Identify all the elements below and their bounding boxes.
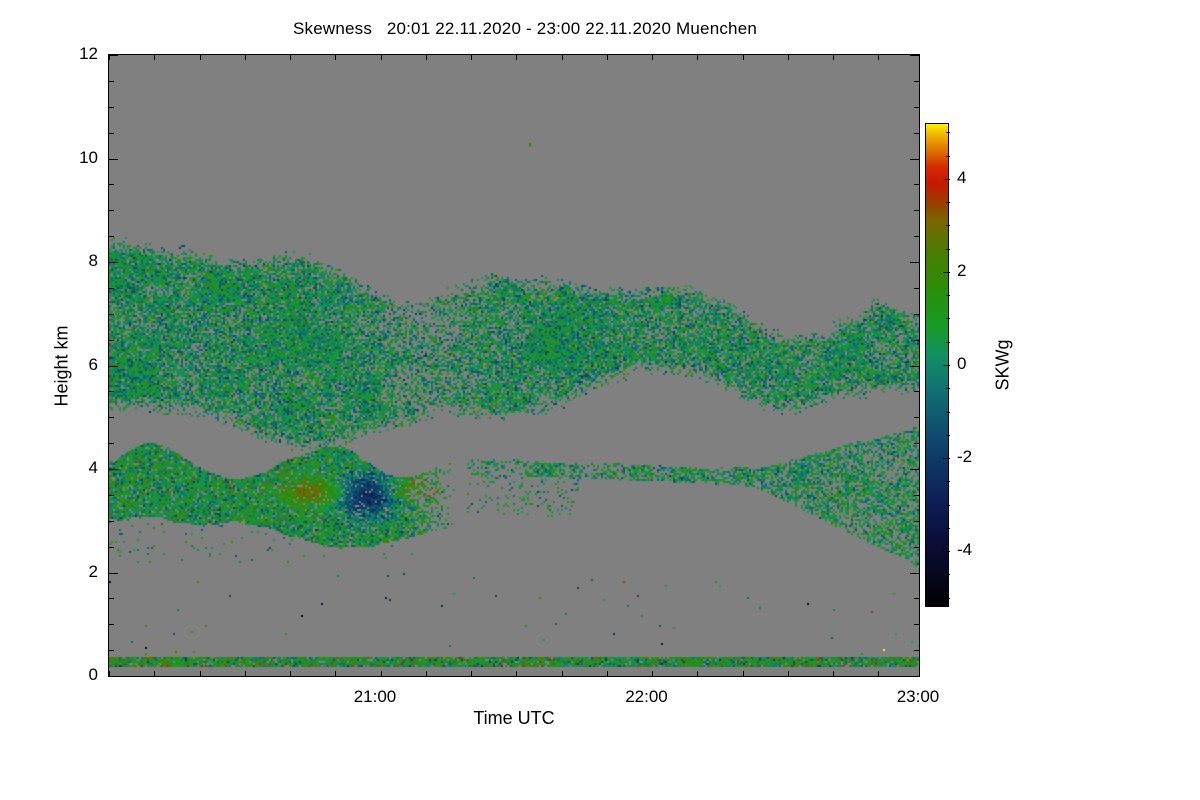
- y-tick-minor: [109, 107, 114, 108]
- x-tick-minor-top: [697, 55, 698, 60]
- y-tick-minor: [109, 624, 114, 625]
- y-tick-minor: [109, 650, 114, 651]
- colorbar-tick-minor: [946, 598, 950, 599]
- y-tick-major: [109, 159, 118, 160]
- figure-canvas: Skewness 20:01 22.11.2020 - 23:00 22.11.…: [0, 0, 1200, 800]
- colorbar-tick-minor: [946, 295, 950, 296]
- y-tick-major: [109, 55, 118, 56]
- colorbar-tick-minor: [946, 342, 950, 343]
- y-tick-minor-right: [914, 391, 919, 392]
- y-tick-minor-right: [914, 624, 919, 625]
- y-tick-minor-right: [914, 314, 919, 315]
- x-tick-minor: [471, 671, 472, 676]
- y-tick-major-right: [910, 159, 919, 160]
- y-tick-minor: [109, 495, 114, 496]
- y-tick-major-right: [910, 55, 919, 56]
- y-tick-minor-right: [914, 340, 919, 341]
- colorbar-tick-label: 0: [957, 354, 966, 374]
- x-tick-minor-top: [471, 55, 472, 60]
- x-tick-minor-top: [154, 55, 155, 60]
- x-tick-minor: [833, 671, 834, 676]
- x-tick-minor: [697, 671, 698, 676]
- x-tick-minor: [200, 671, 201, 676]
- x-tick-minor-top: [878, 55, 879, 60]
- x-tick-minor: [743, 671, 744, 676]
- y-tick-minor: [109, 184, 114, 185]
- x-tick-minor: [516, 671, 517, 676]
- y-tick-minor: [109, 391, 114, 392]
- y-tick-major-right: [910, 366, 919, 367]
- plot-area[interactable]: [108, 54, 920, 677]
- x-tick-minor-top: [335, 55, 336, 60]
- y-tick-minor: [109, 81, 114, 82]
- y-tick-minor-right: [914, 236, 919, 237]
- x-tick-minor-top: [607, 55, 608, 60]
- x-tick-minor: [788, 671, 789, 676]
- y-tick-label: 10: [38, 148, 98, 168]
- x-tick-minor: [381, 671, 382, 676]
- x-axis-title-text: Time UTC: [473, 708, 554, 729]
- colorbar-tick-major: [943, 551, 950, 552]
- y-tick-label: 4: [38, 458, 98, 478]
- x-tick-minor-top: [109, 55, 110, 60]
- colorbar-tick-minor: [946, 574, 950, 575]
- x-tick-minor: [290, 671, 291, 676]
- y-tick-minor: [109, 340, 114, 341]
- y-tick-minor: [109, 443, 114, 444]
- x-tick-minor-top: [200, 55, 201, 60]
- y-tick-major-right: [910, 469, 919, 470]
- colorbar-title: SKWg: [993, 339, 1014, 390]
- colorbar-tick-minor: [946, 412, 950, 413]
- y-tick-minor: [109, 133, 114, 134]
- y-tick-minor: [109, 236, 114, 237]
- y-tick-minor-right: [914, 133, 919, 134]
- y-tick-major-right: [910, 676, 919, 677]
- y-tick-minor-right: [914, 210, 919, 211]
- y-tick-minor: [109, 547, 114, 548]
- y-tick-minor-right: [914, 650, 919, 651]
- x-tick-label: 23:00: [858, 687, 978, 707]
- y-tick-major: [109, 469, 118, 470]
- x-tick-minor: [335, 671, 336, 676]
- colorbar-tick-minor: [946, 388, 950, 389]
- colorbar-tick-minor: [946, 481, 950, 482]
- x-tick-minor-top: [833, 55, 834, 60]
- x-tick-minor-top: [245, 55, 246, 60]
- colorbar-tick-minor: [946, 249, 950, 250]
- y-axis-title-text: Height km: [52, 325, 73, 406]
- y-tick-major-right: [910, 573, 919, 574]
- y-tick-major: [109, 366, 118, 367]
- x-tick-minor: [607, 671, 608, 676]
- colorbar-tick-label: 4: [957, 168, 966, 188]
- y-tick-minor: [109, 314, 114, 315]
- colorbar-tick-label: 2: [957, 261, 966, 281]
- x-tick-minor-top: [290, 55, 291, 60]
- y-tick-minor-right: [914, 184, 919, 185]
- y-tick-minor: [109, 598, 114, 599]
- colorbar-tick-minor: [946, 132, 950, 133]
- colorbar-tick-major: [943, 458, 950, 459]
- colorbar-tick-minor: [946, 435, 950, 436]
- colorbar-tick-major: [943, 272, 950, 273]
- y-tick-minor-right: [914, 598, 919, 599]
- x-tick-minor: [154, 671, 155, 676]
- y-tick-label: 0: [38, 665, 98, 685]
- x-tick-label: 21:00: [315, 687, 435, 707]
- y-tick-minor-right: [914, 417, 919, 418]
- y-tick-minor: [109, 288, 114, 289]
- x-tick-label: 22:00: [586, 687, 706, 707]
- y-tick-minor: [109, 521, 114, 522]
- x-tick-minor-top: [426, 55, 427, 60]
- x-tick-minor: [562, 671, 563, 676]
- y-tick-major-right: [910, 262, 919, 263]
- y-tick-major: [109, 676, 118, 677]
- heatmap-data-canvas: [109, 55, 919, 676]
- colorbar[interactable]: 420-2-4 SKWg: [925, 123, 949, 607]
- x-tick-minor: [245, 671, 246, 676]
- y-tick-minor-right: [914, 521, 919, 522]
- colorbar-tick-major: [943, 365, 950, 366]
- colorbar-tick-major: [943, 179, 950, 180]
- y-tick-label: 12: [38, 44, 98, 64]
- colorbar-tick-minor: [946, 156, 950, 157]
- y-tick-minor-right: [914, 495, 919, 496]
- colorbar-tick-minor: [946, 318, 950, 319]
- colorbar-tick-minor: [946, 505, 950, 506]
- x-tick-minor: [652, 671, 653, 676]
- y-tick-minor-right: [914, 107, 919, 108]
- y-tick-minor: [109, 210, 114, 211]
- y-tick-label: 2: [38, 562, 98, 582]
- colorbar-tick-minor: [946, 202, 950, 203]
- y-tick-minor-right: [914, 547, 919, 548]
- x-tick-minor: [878, 671, 879, 676]
- x-tick-minor-top: [516, 55, 517, 60]
- colorbar-tick-minor: [946, 528, 950, 529]
- y-tick-label: 8: [38, 251, 98, 271]
- y-tick-major: [109, 262, 118, 263]
- y-tick-minor: [109, 417, 114, 418]
- x-tick-minor: [109, 671, 110, 676]
- y-tick-major: [109, 573, 118, 574]
- y-tick-minor-right: [914, 288, 919, 289]
- x-tick-minor-top: [562, 55, 563, 60]
- x-tick-minor-top: [788, 55, 789, 60]
- colorbar-tick-minor: [946, 225, 950, 226]
- y-tick-minor-right: [914, 443, 919, 444]
- colorbar-tick-label: -2: [957, 447, 972, 467]
- x-tick-minor-top: [381, 55, 382, 60]
- x-tick-minor-top: [743, 55, 744, 60]
- colorbar-tick-label: -4: [957, 540, 972, 560]
- x-tick-minor: [426, 671, 427, 676]
- y-tick-minor-right: [914, 81, 919, 82]
- x-tick-minor-top: [652, 55, 653, 60]
- page-title: Skewness 20:01 22.11.2020 - 23:00 22.11.…: [0, 19, 1050, 39]
